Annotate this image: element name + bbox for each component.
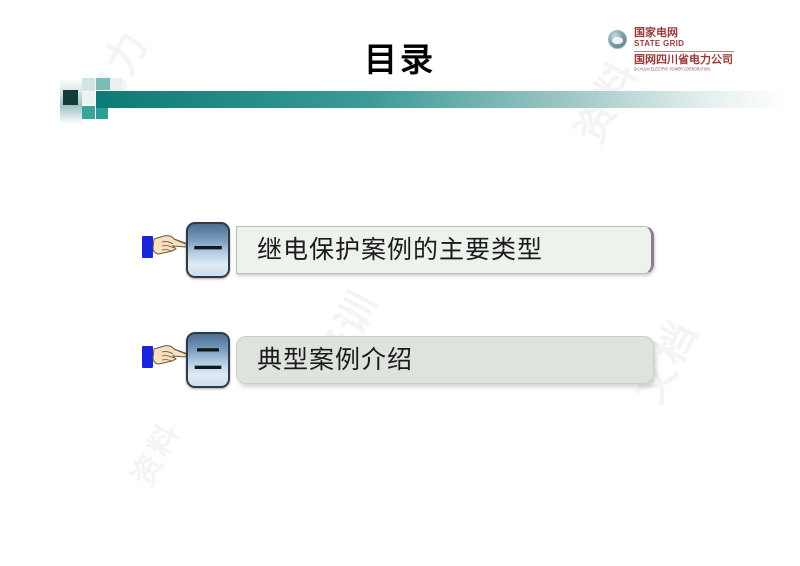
- header-bar-square: [110, 78, 122, 90]
- toc-number-badge: 一: [186, 222, 230, 278]
- pointing-hand-icon: [142, 340, 190, 374]
- logo-brand-cn: 国家电网: [634, 27, 678, 39]
- header-bar-square: [82, 92, 95, 105]
- header-bar-dark-square: [63, 90, 78, 105]
- header-bar-square: [96, 78, 110, 90]
- state-grid-globe-icon: [608, 30, 627, 49]
- logo-divider: [634, 51, 734, 52]
- header-bar-square: [82, 106, 95, 119]
- header-bar-gradient-stripe: [96, 91, 786, 108]
- slide-canvas: 电力 资料 培训 文档 资料 目录 国家电网 STATE GRID 国网四川省电…: [0, 0, 800, 566]
- logo-company-cn: 国网四川省电力公司: [634, 54, 733, 67]
- toc-item-label: 典型案例介绍: [237, 345, 413, 375]
- header-bar-square: [96, 108, 108, 119]
- toc-item-2[interactable]: 二 典型案例介绍: [0, 332, 800, 392]
- logo-company-en: SICHUAN ELECTRIC POWER CORPORATION: [634, 67, 710, 73]
- hand-glyph: [152, 230, 190, 264]
- toc-number-badge: 二: [186, 332, 230, 388]
- header-bar-square: [82, 78, 95, 91]
- header-decoration-bar: [0, 78, 800, 124]
- hand-glyph: [152, 340, 190, 374]
- toc-item-label: 继电保护案例的主要类型: [237, 235, 543, 265]
- watermark-text: 资料: [119, 412, 190, 493]
- pointing-hand-icon: [142, 230, 190, 264]
- toc-item-1[interactable]: 一 继电保护案例的主要类型: [0, 222, 800, 282]
- toc-label-bar[interactable]: 典型案例介绍: [236, 336, 654, 384]
- toc-label-bar[interactable]: 继电保护案例的主要类型: [236, 226, 654, 274]
- logo-brand-en: STATE GRID: [634, 39, 684, 48]
- corporate-logo: 国家电网 STATE GRID 国网四川省电力公司 SICHUAN ELECTR…: [608, 27, 736, 77]
